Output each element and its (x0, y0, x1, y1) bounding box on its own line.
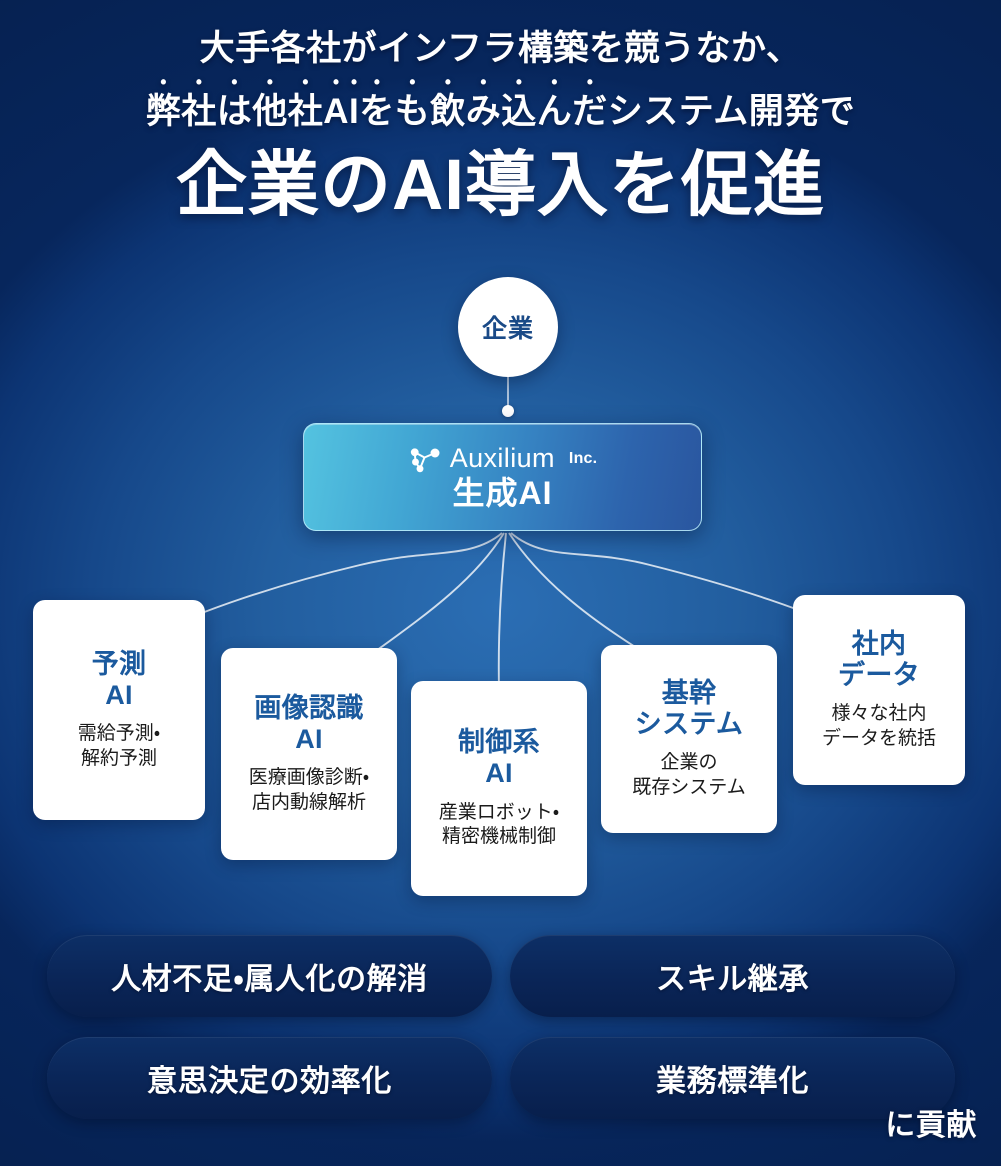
capability-card-title-line1: 基幹 (635, 678, 743, 709)
capability-card: 基幹 システム 企業の 既存システム (601, 645, 777, 833)
capability-card-title: 予測 AI (92, 649, 147, 712)
benefit-pill: 意思決定の効率化 (47, 1037, 492, 1119)
benefit-pill: 人材不足・属人化の解消 (47, 935, 492, 1017)
capability-card-desc-line1: 医療画像診断・ (249, 766, 369, 791)
contribution-label: に貢献 (885, 1100, 977, 1144)
capability-card-desc-line1: 様々な社内 (822, 702, 936, 727)
capability-card-title-line1: 予測 (92, 649, 147, 680)
capability-card-title: 画像認識 AI (254, 693, 363, 756)
capability-card-desc-line2: データを統括 (822, 727, 936, 752)
headline-emphasis-text: 弊社は他社AIをも飲み込んだ (146, 92, 608, 131)
capability-card-title-line1: 制御系 (458, 727, 540, 758)
benefit-pill: スキル継承 (510, 935, 955, 1017)
capability-card-title-line1: 画像認識 (254, 693, 363, 724)
product-brand-row: Auxilium Inc. (408, 444, 598, 474)
capability-card-desc: 産業ロボット・ 精密機械制御 (439, 801, 559, 850)
capability-card-desc-line2: 店内動線解析 (249, 791, 369, 816)
capability-card-title-line2: AI (92, 680, 147, 711)
product-brand-name: Auxilium (450, 445, 555, 472)
capability-card-desc: 様々な社内 データを統括 (822, 702, 936, 751)
capability-card-title-line2: システム (635, 709, 743, 740)
capability-card-title: 社内 データ (838, 629, 920, 692)
capability-card-desc-line2: 既存システム (632, 776, 745, 801)
connector-stem-dot (502, 405, 514, 417)
capability-card-desc-line1: 企業の (632, 751, 745, 776)
capability-card-title-line1: 社内 (838, 629, 920, 660)
capability-card-title: 基幹 システム (635, 678, 743, 741)
headline-subline-2: 弊社は他社AIをも飲み込んだシステム開発で (0, 72, 1001, 135)
benefit-pill-label: スキル継承 (656, 954, 809, 998)
capability-card-title-line2: AI (254, 724, 363, 755)
capability-card-desc-line1: 産業ロボット・ (439, 801, 559, 826)
product-brand-suffix: Inc. (569, 451, 597, 467)
network-node-icon (408, 444, 441, 474)
enterprise-node-label: 企業 (482, 309, 534, 345)
capability-card-title: 制御系 AI (458, 727, 540, 790)
capability-card: 画像認識 AI 医療画像診断・ 店内動線解析 (221, 648, 397, 860)
capability-card-desc-line2: 精密機械制御 (439, 825, 559, 850)
benefit-pill-label: 人材不足・属人化の解消 (111, 954, 428, 998)
capability-card: 制御系 AI 産業ロボット・ 精密機械制御 (411, 681, 587, 896)
headline-subline-2-tail: システム開発で (608, 92, 855, 131)
infographic-canvas: 大手各社がインフラ構築を競うなか、 弊社は他社AIをも飲み込んだシステム開発で … (0, 0, 1001, 1166)
headline-subline-1: 大手各社がインフラ構築を競うなか、 (0, 26, 1001, 72)
capability-card-desc-line2: 解約予測 (78, 747, 160, 772)
product-box: Auxilium Inc. 生成AI (303, 423, 702, 531)
capability-card-desc: 需給予測・ 解約予測 (78, 722, 160, 771)
capability-card-title-line2: データ (838, 660, 920, 691)
capability-card-desc-line1: 需給予測・ (78, 722, 160, 747)
capability-card-title-line2: AI (458, 758, 540, 789)
headline-block: 大手各社がインフラ構築を競うなか、 弊社は他社AIをも飲み込んだシステム開発で … (0, 26, 1001, 226)
capability-card-desc: 医療画像診断・ 店内動線解析 (249, 766, 369, 815)
capability-card: 社内 データ 様々な社内 データを統括 (793, 595, 965, 785)
benefit-pill-label: 業務標準化 (656, 1056, 809, 1100)
product-subtitle: 生成AI (452, 477, 552, 511)
enterprise-node: 企業 (458, 277, 558, 377)
capability-card-desc: 企業の 既存システム (632, 751, 745, 800)
capability-card: 予測 AI 需給予測・ 解約予測 (33, 600, 205, 820)
page-title: 企業のAI導入を促進 (0, 146, 1001, 226)
benefit-pill-label: 意思決定の効率化 (147, 1056, 392, 1100)
